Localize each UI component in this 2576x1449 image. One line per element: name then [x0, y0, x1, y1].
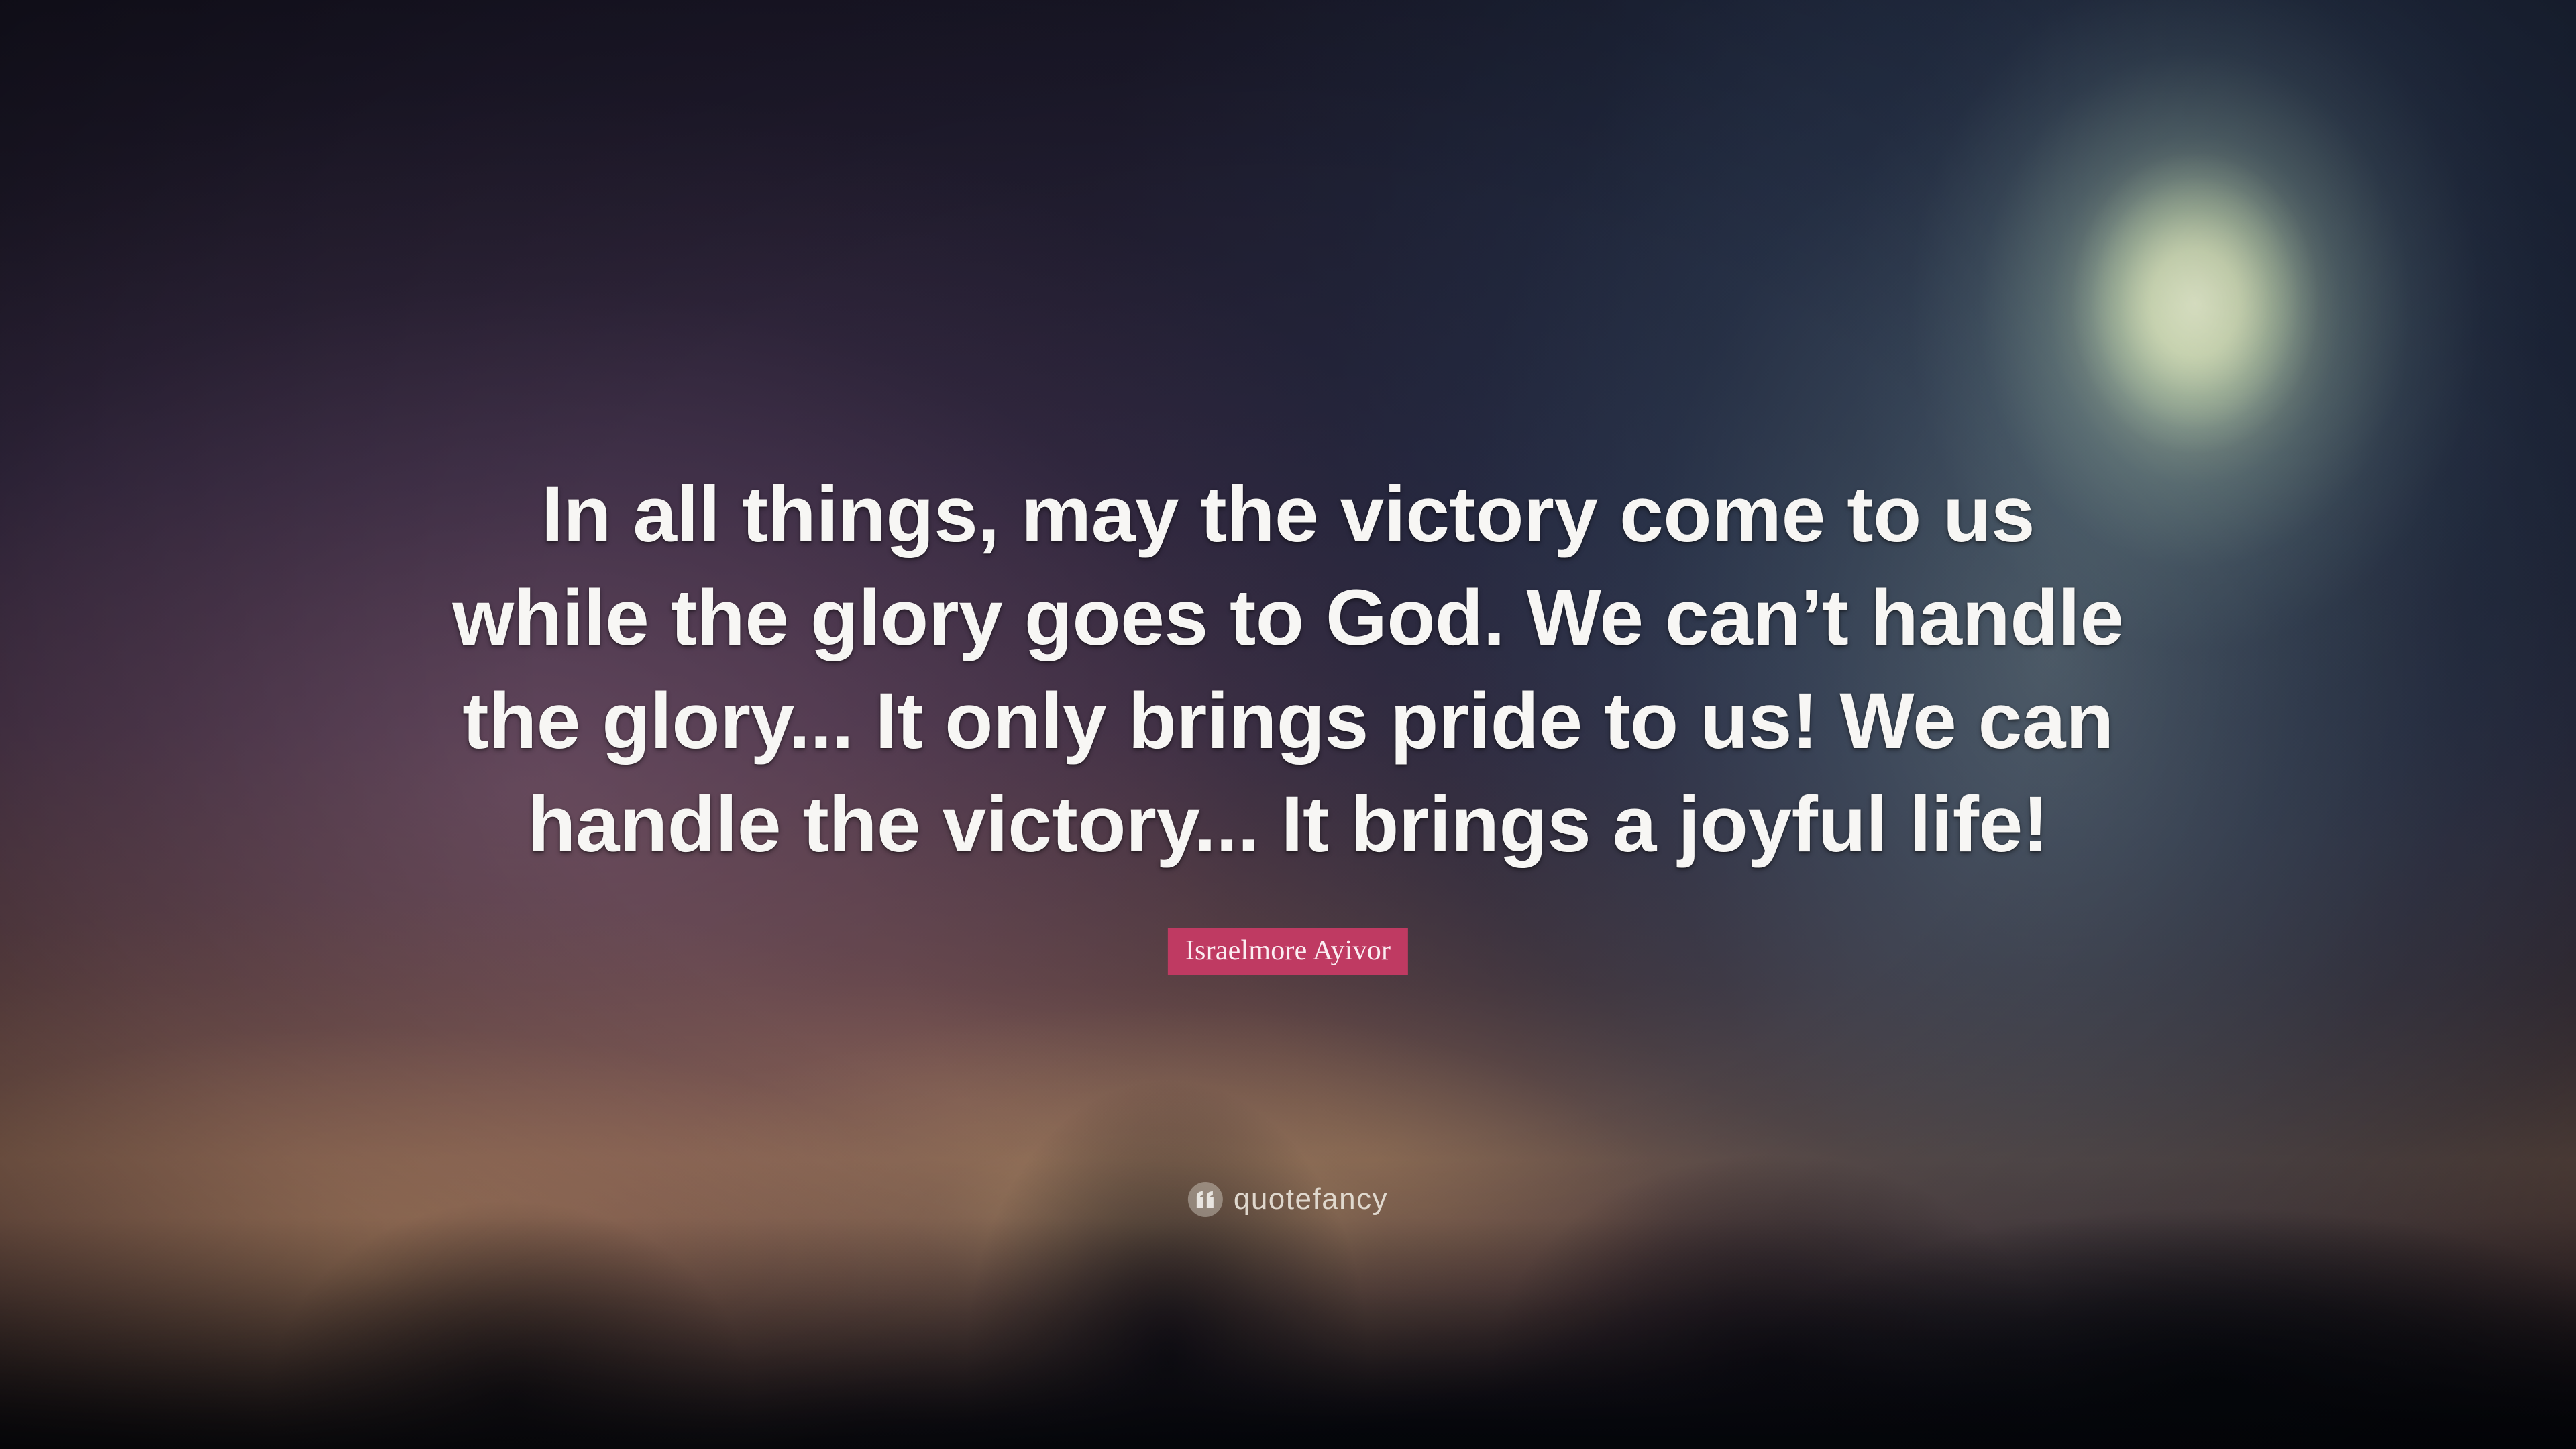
quote-line-2: while the glory goes to God. We can’t ha…	[121, 566, 2455, 669]
author-name: Israelmore Ayivor	[1185, 936, 1391, 965]
quote-poster: In all things, may the victory come to u…	[0, 0, 2576, 1449]
quotefancy-wordmark: quotefancy	[1234, 1184, 1388, 1215]
quote-line-3: the glory... It only brings pride to us!…	[121, 669, 2455, 773]
quotation-mark-icon	[1188, 1182, 1223, 1217]
quote-line-1: In all things, may the victory come to u…	[121, 463, 2455, 566]
poster-content: In all things, may the victory come to u…	[0, 0, 2576, 1449]
quote-text: In all things, may the victory come to u…	[0, 463, 2576, 876]
quotefancy-watermark[interactable]: quotefancy	[1188, 1182, 1388, 1217]
quote-line-4: handle the victory... It brings a joyful…	[121, 773, 2455, 876]
author-badge[interactable]: Israelmore Ayivor	[1168, 928, 1408, 975]
